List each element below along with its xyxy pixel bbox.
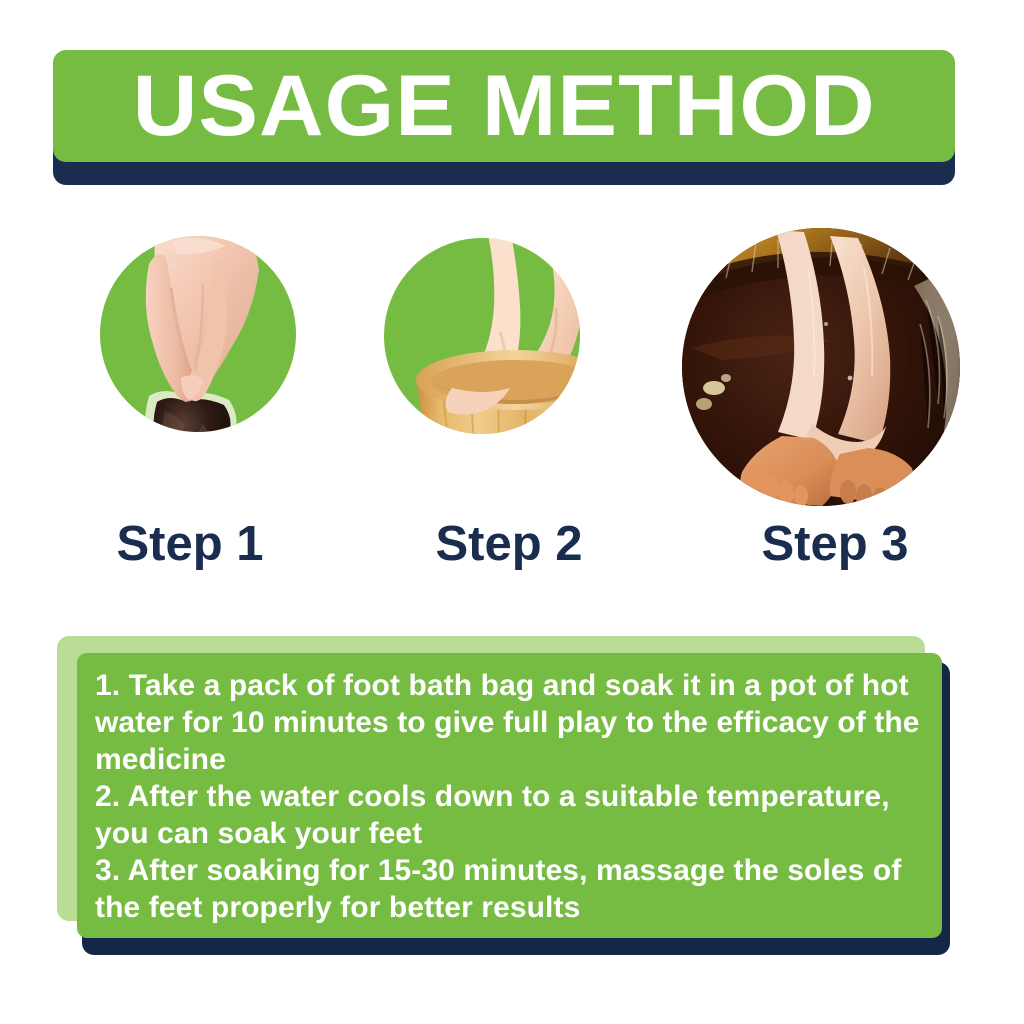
step-2-label: Step 2 [364, 516, 654, 572]
instructions-green-panel: 1. Take a pack of foot bath bag and soak… [77, 653, 942, 938]
step-3-illustration [682, 228, 960, 506]
step-1-image-wrap [53, 228, 343, 513]
step-item-2: Step 2 [368, 228, 658, 578]
hand-holding-foot-bath-sachet-image [100, 236, 296, 432]
step-1-illustration [100, 236, 296, 432]
step-2-illustration [384, 238, 580, 434]
step-item-3: Step 3 [672, 228, 962, 578]
step-3-label: Step 3 [690, 516, 980, 572]
step-3-image-wrap [672, 228, 962, 513]
step-2-image-wrap [368, 228, 658, 513]
step-1-label: Step 1 [45, 516, 335, 572]
instructions-text: 1. Take a pack of foot bath bag and soak… [95, 667, 920, 926]
header-banner: USAGE METHOD [53, 50, 955, 185]
header-green-bar: USAGE METHOD [53, 50, 955, 162]
page-title: USAGE METHOD [133, 63, 876, 149]
feet-in-wooden-foot-tub-image [384, 238, 580, 434]
instructions-panel: 1. Take a pack of foot bath bag and soak… [57, 636, 957, 966]
steps-row: Step 1 [0, 228, 1024, 578]
step-item-1: Step 1 [53, 228, 343, 578]
feet-soaking-in-herbal-water-image [682, 228, 960, 506]
